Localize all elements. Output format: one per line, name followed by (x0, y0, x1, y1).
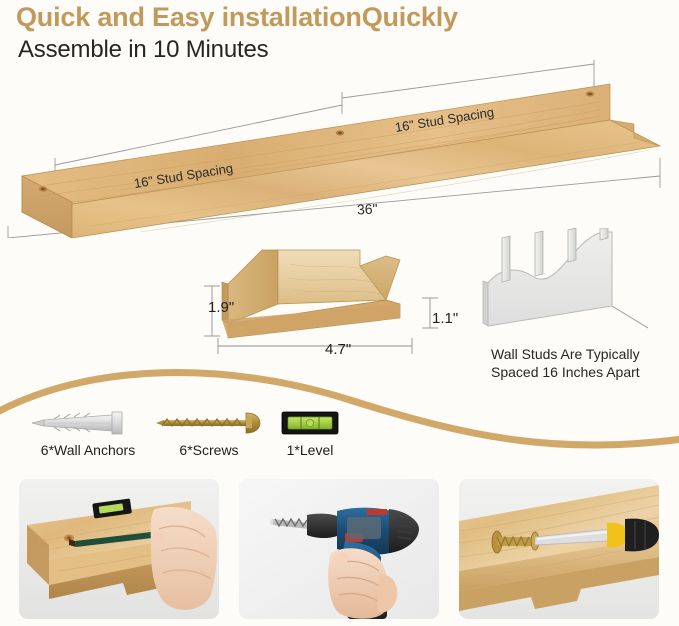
wall-anchors-label: 6*Wall Anchors (20, 442, 156, 458)
drill-accent-top (367, 509, 387, 515)
hardware-item-wall-anchors: 6*Wall Anchors (20, 406, 156, 458)
section-lip-label: 1.1" (432, 310, 458, 327)
stud-3 (568, 228, 576, 262)
hardware-item-level: 1*Level (268, 406, 352, 458)
stud-4 (600, 228, 608, 240)
screw-icon (150, 406, 268, 440)
step-photo-mark-with-level (19, 479, 219, 619)
shelf-perspective-diagram: 16" Stud Spacing 16" Stud Spacing (0, 58, 679, 238)
screw-hole-center (336, 130, 344, 135)
drill-chuck (307, 514, 339, 538)
screws-label: 6*Screws (150, 442, 268, 458)
wall-studs-caption-line1: Wall Studs Are Typically (491, 345, 671, 363)
step-photo-drive-screw (459, 479, 659, 619)
screw-hole-left (39, 186, 47, 191)
overall-length-label: 36" (357, 200, 378, 217)
section-back-upstand (228, 250, 278, 324)
step-photo-drill-hole (239, 479, 439, 619)
hardware-item-screws: 6*Screws (150, 406, 268, 458)
screw-hole-right (586, 91, 594, 96)
wall-studs-diagram (480, 228, 660, 338)
shelf-svg (0, 58, 679, 238)
stud-1 (502, 236, 510, 282)
wall-studs-svg (480, 228, 660, 338)
stud-2 (535, 231, 543, 276)
drywall-edge (483, 281, 488, 326)
section-height-label: 1.9" (208, 299, 234, 316)
level-label: 1*Level (268, 442, 352, 458)
wall-anchor-icon (20, 406, 156, 440)
page-title: Quick and Easy installationQuickly (16, 2, 458, 33)
bubble-level-icon (268, 406, 352, 440)
product-infographic: Quick and Easy installationQuickly Assem… (0, 0, 679, 626)
hand-in-photo (151, 507, 217, 610)
section-depth-label: 4.7" (325, 341, 351, 358)
